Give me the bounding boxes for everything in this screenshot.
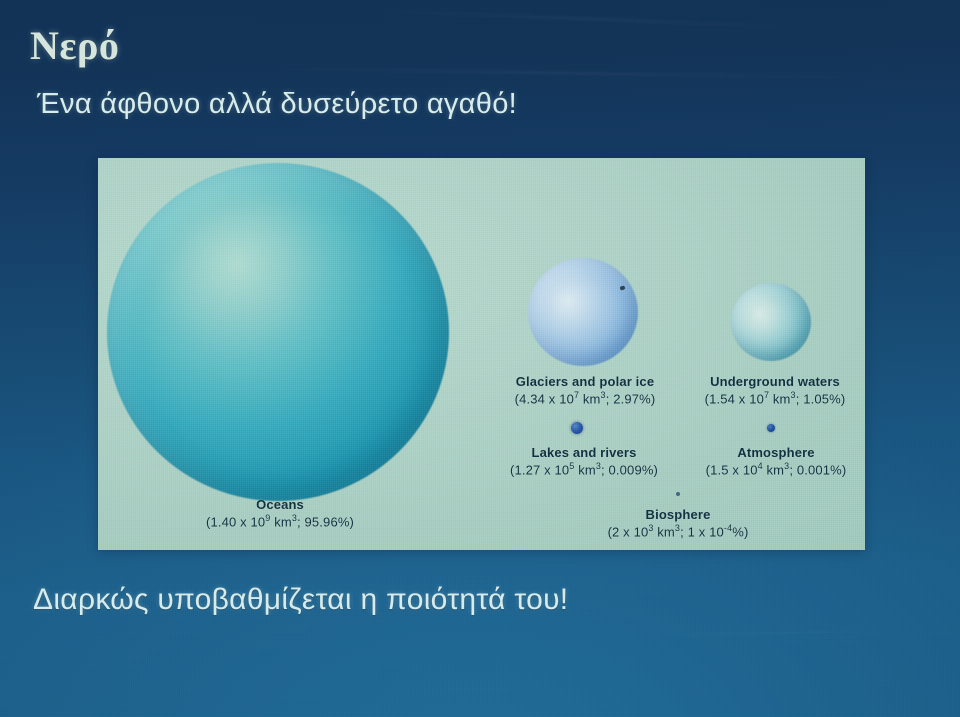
screen-crease xyxy=(600,628,940,638)
underground-waters-value: (1.54 x 107 km3; 1.05%) xyxy=(686,390,864,407)
biosphere-dot xyxy=(676,492,680,496)
oceans-label: Oceans xyxy=(158,496,402,513)
glaciers-sphere xyxy=(528,258,638,366)
underground-waters-sphere xyxy=(731,283,811,361)
oceans-value: (1.40 x 109 km3; 95.96%) xyxy=(158,513,402,530)
slide-subtitle: Ένα άφθονο αλλά δυσεύρετο αγαθό! xyxy=(37,88,517,121)
biosphere-value: (2 x 103 km3; 1 x 10-4%) xyxy=(588,523,768,540)
underground-waters-caption: Underground waters (1.54 x 107 km3; 1.05… xyxy=(686,373,864,408)
screen-crease xyxy=(380,10,800,28)
lakes-and-rivers-dot xyxy=(571,422,583,434)
atmosphere-caption: Atmosphere (1.5 x 104 km3; 0.001%) xyxy=(688,444,864,479)
glaciers-value: (4.34 x 107 km3; 2.97%) xyxy=(490,390,680,407)
atmosphere-dot xyxy=(767,424,775,432)
oceans-caption: Oceans (1.40 x 109 km3; 95.96%) xyxy=(158,496,402,531)
glaciers-caption: Glaciers and polar ice (4.34 x 107 km3; … xyxy=(490,373,680,408)
lakes-and-rivers-value: (1.27 x 105 km3; 0.009%) xyxy=(484,461,684,478)
slide-title: Νερό xyxy=(30,22,119,69)
oceans-sphere xyxy=(107,163,449,501)
atmosphere-label: Atmosphere xyxy=(688,444,864,461)
underground-waters-label: Underground waters xyxy=(686,373,864,390)
water-distribution-figure: Oceans (1.40 x 109 km3; 95.96%) Glaciers… xyxy=(98,158,865,550)
lakes-and-rivers-label: Lakes and rivers xyxy=(484,444,684,461)
biosphere-label: Biosphere xyxy=(588,506,768,523)
slide-footnote: Διαρκώς υποβαθμίζεται η ποιότητά του! xyxy=(33,583,568,617)
screen-crease xyxy=(250,67,870,79)
lakes-and-rivers-caption: Lakes and rivers (1.27 x 105 km3; 0.009%… xyxy=(484,444,684,479)
biosphere-caption: Biosphere (2 x 103 km3; 1 x 10-4%) xyxy=(588,506,768,541)
presentation-slide: Νερό Ένα άφθονο αλλά δυσεύρετο αγαθό! Oc… xyxy=(0,0,960,717)
glaciers-label: Glaciers and polar ice xyxy=(490,373,680,390)
atmosphere-value: (1.5 x 104 km3; 0.001%) xyxy=(688,461,864,478)
